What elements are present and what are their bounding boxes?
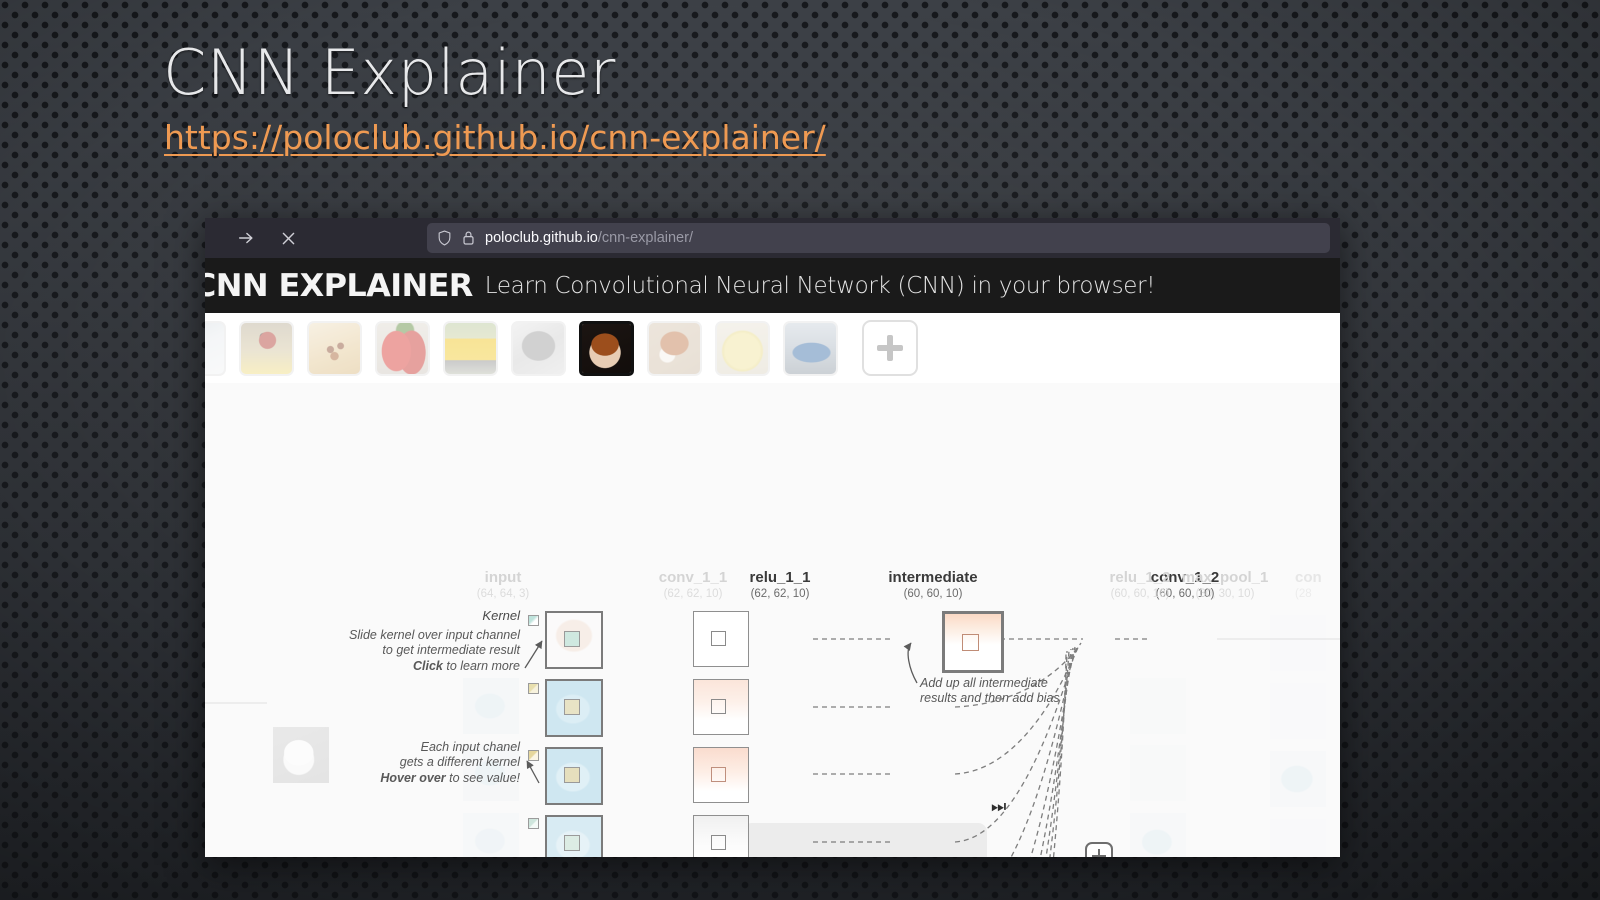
url-path: /cnn-explainer/ <box>598 230 693 246</box>
thumbnail-ladybug[interactable] <box>239 321 294 376</box>
lock-icon[interactable] <box>462 230 475 246</box>
page-title: CNN Explainer <box>163 36 616 109</box>
slide-url-link[interactable]: https://poloclub.github.io/cnn-explainer… <box>164 118 826 157</box>
thumbnail-orange[interactable] <box>715 321 770 376</box>
thumbnail-school-bus[interactable] <box>443 321 498 376</box>
url-domain: poloclub.github.io <box>485 230 598 246</box>
close-icon <box>280 230 297 247</box>
url-text: poloclub.github.io/cnn-explainer/ <box>485 230 693 246</box>
thumbnail-sports-car[interactable] <box>783 321 838 376</box>
thumbnail-fish[interactable] <box>205 321 226 376</box>
thumbnail-espresso[interactable] <box>579 321 634 376</box>
site-logo: CNN EXPLAINER <box>205 268 473 304</box>
address-bar[interactable]: poloclub.github.io/cnn-explainer/ <box>427 223 1330 253</box>
thumbnail-koala[interactable] <box>511 321 566 376</box>
thumbnail-pizza[interactable] <box>307 321 362 376</box>
browser-toolbar: poloclub.github.io/cnn-explainer/ <box>205 218 1340 258</box>
forward-button[interactable] <box>231 223 261 253</box>
stop-button[interactable] <box>273 223 303 253</box>
site-tagline: Learn Convolutional Neural Network (CNN)… <box>485 273 1156 299</box>
annotation-arrows <box>205 383 1340 857</box>
image-selection-strip <box>205 313 1340 383</box>
arrow-right-icon <box>237 229 255 247</box>
thumbnail-red-panda[interactable] <box>647 321 702 376</box>
network-visualization: input (64, 64, 3) conv_1_1 (62, 62, 10) … <box>205 383 1340 857</box>
browser-window: poloclub.github.io/cnn-explainer/ CNN EX… <box>205 218 1340 857</box>
thumbnail-bell-pepper[interactable] <box>375 321 430 376</box>
add-image-button[interactable] <box>862 320 918 376</box>
shield-icon[interactable] <box>437 230 452 246</box>
plus-icon <box>877 335 903 361</box>
site-header: CNN EXPLAINER Learn Convolutional Neural… <box>205 258 1340 313</box>
